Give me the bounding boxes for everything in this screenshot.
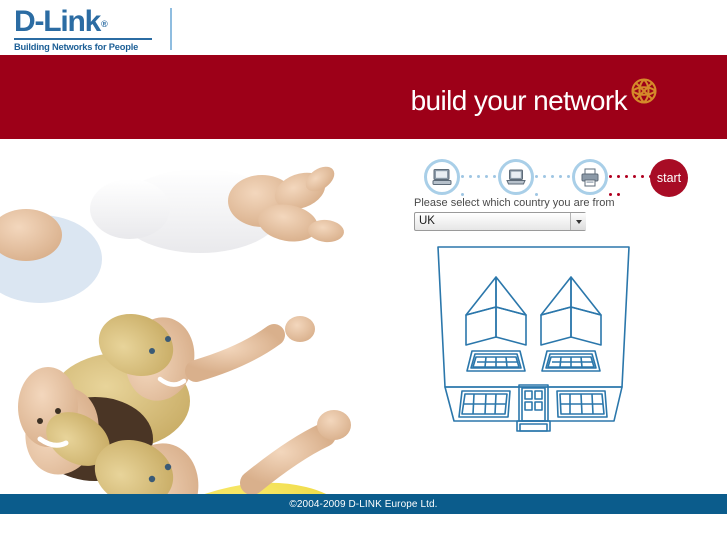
desktop-computer-icon — [432, 168, 452, 186]
country-select[interactable]: UK — [414, 212, 586, 231]
hero-banner: build your network — [0, 55, 727, 139]
step-node-computer[interactable] — [424, 159, 460, 195]
connector-dots-1 — [461, 175, 501, 179]
header-vertical-divider — [170, 8, 172, 50]
family-photo — [0, 139, 400, 494]
step-indicator: start — [412, 159, 712, 199]
copyright-text: ©2004-2009 D-LINK Europe Ltd. — [289, 499, 437, 510]
laptop-icon — [506, 168, 526, 186]
country-label: Please select which country you are from — [414, 197, 615, 209]
connector-dots-2 — [535, 175, 575, 179]
family-photo-image — [0, 139, 400, 494]
page-title: build your network — [411, 85, 627, 117]
house-line-art — [426, 241, 641, 437]
start-button[interactable]: start — [650, 159, 688, 197]
step-node-laptop[interactable] — [498, 159, 534, 195]
step-node-printer[interactable] — [572, 159, 608, 195]
footer-bar: ©2004-2009 D-LINK Europe Ltd. — [0, 494, 727, 514]
globe-sphere-icon — [627, 74, 661, 108]
logo-wordmark-text: D-Link — [14, 5, 100, 38]
printer-icon — [580, 168, 600, 187]
logo-wordmark: D-Link® — [14, 7, 154, 37]
below-footer-spacer — [0, 514, 727, 545]
logo-underline — [14, 38, 152, 40]
header-logo-bar: D-Link® Building Networks for People — [0, 0, 727, 55]
registered-trademark-icon: ® — [101, 19, 108, 29]
setup-panel: start Please select which country you ar… — [400, 139, 727, 494]
dlink-logo[interactable]: D-Link® Building Networks for People — [14, 7, 154, 52]
logo-tagline: Building Networks for People — [14, 42, 154, 52]
